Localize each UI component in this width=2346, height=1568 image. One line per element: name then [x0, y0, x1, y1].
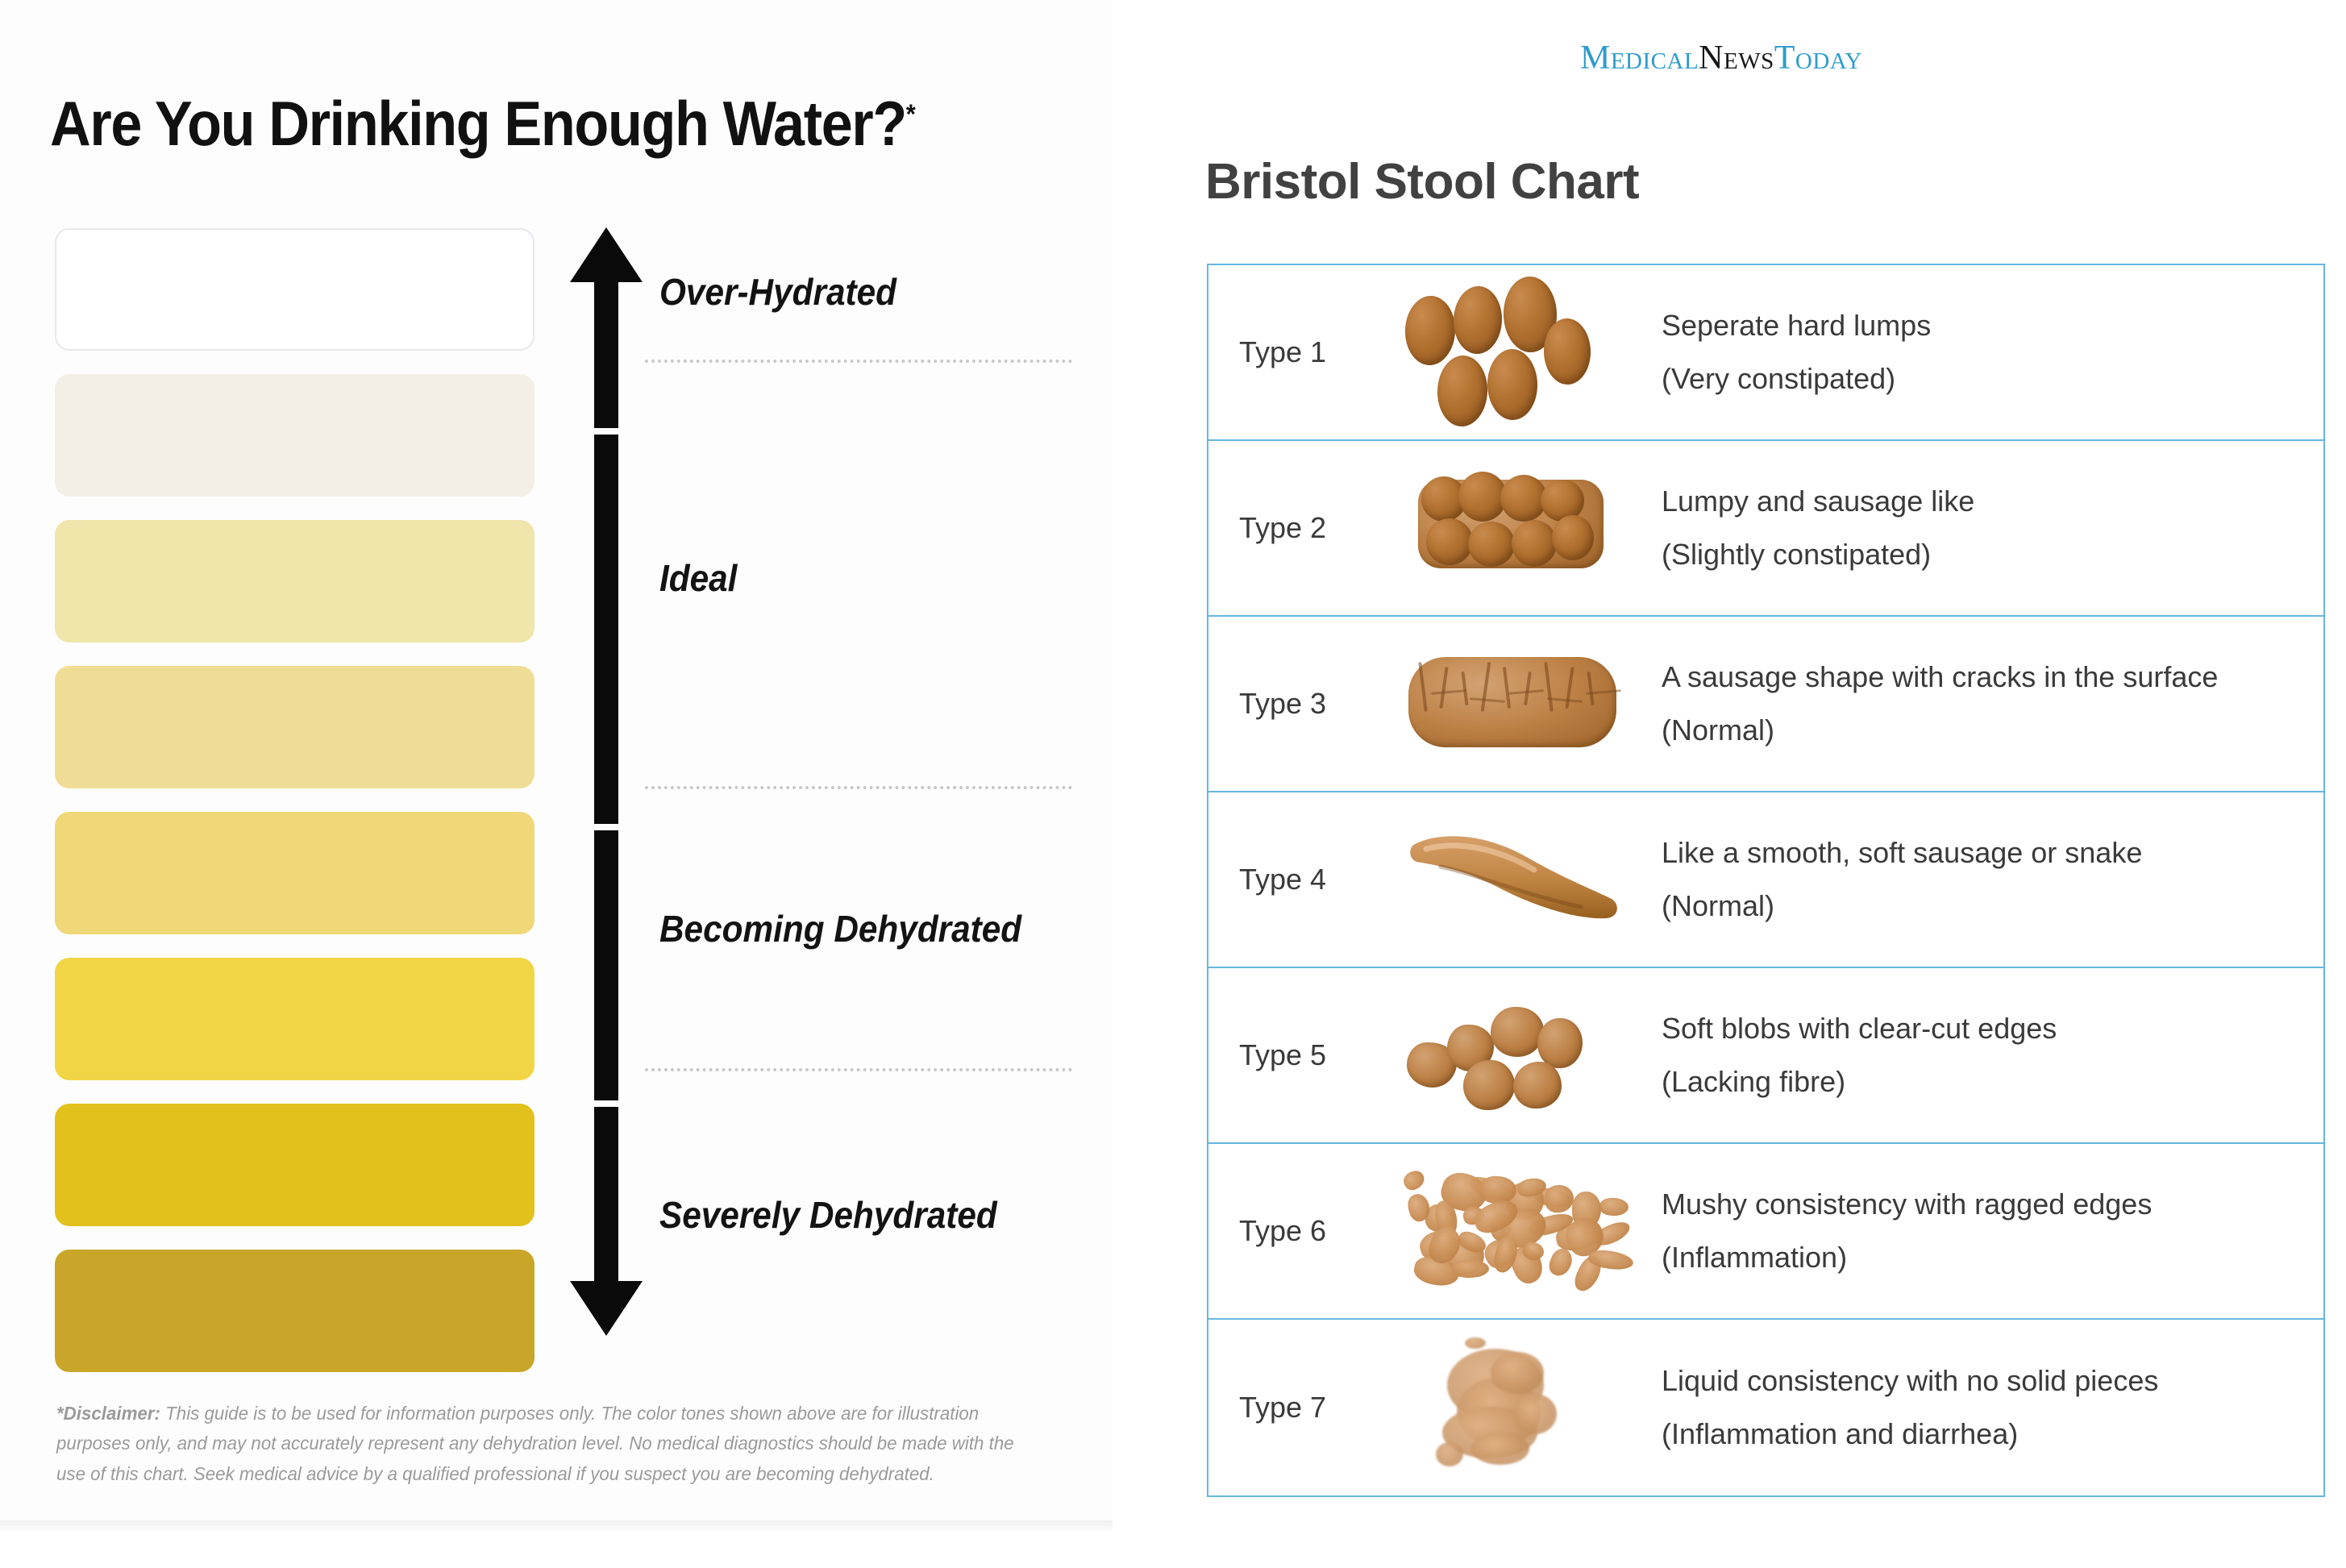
logo-part-medical: Medical	[1580, 40, 1699, 77]
stool-description: Like a smooth, soft sausage or snake(Nor…	[1644, 838, 2323, 921]
stool-mush-piece	[1599, 1197, 1628, 1217]
arrow-shaft-segment-1	[594, 282, 618, 428]
swatch-7-gold	[55, 1104, 535, 1226]
stool-type-label: Type 5	[1208, 1038, 1394, 1072]
stool-illustration-hard-lumps	[1394, 265, 1644, 439]
stool-lump	[1453, 285, 1504, 355]
table-row: Type 3A sausage shape with cracks in the…	[1208, 617, 2323, 792]
hydration-chart-title: Are You Drinking Enough Water?*	[50, 87, 914, 160]
stool-description-main: Seperate hard lumps	[1662, 311, 2323, 340]
swatch-4-light-yellow	[55, 666, 535, 788]
stool-description-main: Soft blobs with clear-cut edges	[1662, 1014, 2323, 1043]
hydration-chart-panel: Are You Drinking Enough Water?* Over-Hyd…	[0, 0, 1113, 1532]
stool-illustration-liquid	[1394, 1320, 1644, 1495]
stool-description-sub: (Slightly constipated)	[1662, 540, 2323, 569]
stool-snake	[1408, 830, 1623, 925]
table-row: Type 6Mushy consistency with ragged edge…	[1208, 1144, 2323, 1320]
stool-lump	[1487, 348, 1538, 420]
stool-description-main: Lumpy and sausage like	[1662, 487, 2323, 516]
arrow-head-down-icon	[570, 1281, 643, 1336]
stool-description-sub: (Inflammation)	[1662, 1243, 2323, 1272]
stool-description-main: Liquid consistency with no solid pieces	[1662, 1366, 2323, 1395]
logo-part-news: News	[1699, 40, 1774, 77]
stool-type-label: Type 6	[1208, 1214, 1394, 1248]
stool-description: Liquid consistency with no solid pieces(…	[1644, 1366, 2323, 1449]
stool-soft-blob	[1491, 1007, 1544, 1057]
swatch-6-deep-yellow	[55, 958, 535, 1080]
stool-mush-piece	[1400, 1167, 1428, 1193]
urine-color-swatch-column	[55, 228, 535, 1395]
logo-part-today: Today	[1774, 40, 1862, 77]
arrow-head-up-icon	[570, 227, 643, 282]
arrow-shaft-segment-4	[594, 1107, 618, 1281]
hydration-scale-arrow	[570, 227, 643, 1336]
stool-illustration-cracked-sausage	[1394, 617, 1644, 791]
stool-type-label: Type 4	[1208, 863, 1394, 896]
stool-illustration-smooth-sausage	[1394, 792, 1644, 967]
stool-description-sub: (Very constipated)	[1662, 364, 2323, 393]
swatch-3-pale-yellow	[55, 520, 535, 643]
arrow-shaft-segment-2	[594, 435, 618, 824]
stool-description-main: Like a smooth, soft sausage or snake	[1662, 838, 2323, 867]
stool-description: Soft blobs with clear-cut edges(Lacking …	[1644, 1014, 2323, 1096]
bristol-chart-title: Bristol Stool Chart	[1205, 153, 1639, 210]
title-asterisk: *	[906, 99, 915, 130]
stool-illustration-mushy	[1394, 1144, 1644, 1318]
stool-liquid-pool	[1465, 1337, 1486, 1349]
stool-illustration-soft-blobs	[1394, 968, 1644, 1142]
stool-type-label: Type 2	[1208, 511, 1394, 545]
stool-liquid-pool	[1513, 1394, 1557, 1434]
zone-divider-1	[645, 360, 1072, 363]
stool-type-label: Type 1	[1208, 335, 1394, 369]
disclaimer-body: This guide is to be used for information…	[56, 1403, 1014, 1484]
stool-mush-piece	[1452, 1260, 1489, 1278]
swatch-2-pale-cream	[55, 374, 535, 497]
stool-soft-blob	[1463, 1060, 1515, 1110]
stool-lump	[1436, 355, 1488, 427]
stool-illustration-lumpy-sausage	[1394, 441, 1644, 615]
stool-lump	[1552, 515, 1594, 560]
zone-divider-3	[645, 1068, 1072, 1071]
table-row: Type 5Soft blobs with clear-cut edges(La…	[1208, 968, 2323, 1144]
stool-lump	[1512, 520, 1557, 567]
zone-divider-2	[645, 786, 1072, 789]
table-row: Type 4 Like a smooth, soft sausage or sn…	[1208, 792, 2323, 968]
arrow-shaft-segment-3	[594, 830, 618, 1100]
stool-soft-blob	[1513, 1062, 1562, 1108]
stool-description-sub: (Lacking fibre)	[1662, 1067, 2323, 1096]
table-row: Type 1Seperate hard lumps(Very constipat…	[1208, 265, 2323, 441]
zone-label-becoming-dehydrated: Becoming Dehydrated	[659, 907, 1021, 950]
stool-description: Seperate hard lumps(Very constipated)	[1644, 311, 2323, 393]
stool-lump	[1458, 472, 1507, 522]
stool-lump	[1404, 295, 1457, 366]
stool-type-label: Type 3	[1208, 687, 1394, 721]
stool-lump	[1543, 318, 1591, 385]
table-row: Type 7Liquid consistency with no solid p…	[1208, 1320, 2323, 1495]
stool-description-main: Mushy consistency with ragged edges	[1662, 1190, 2323, 1219]
stool-soft-blob	[1537, 1018, 1583, 1068]
stool-lump	[1468, 522, 1515, 567]
stool-description-sub: (Normal)	[1662, 892, 2323, 921]
swatch-5-yellow	[55, 812, 535, 934]
bristol-stool-table: Type 1Seperate hard lumps(Very constipat…	[1207, 264, 2325, 1497]
stool-liquid-pool	[1471, 1433, 1529, 1465]
medical-news-today-logo: MedicalNewsToday	[1580, 39, 1862, 77]
stool-mush-piece	[1544, 1183, 1575, 1213]
table-row: Type 2Lumpy and sausage like(Slightly co…	[1208, 441, 2323, 617]
stool-liquid-pool	[1436, 1442, 1463, 1466]
stool-description: Mushy consistency with ragged edges(Infl…	[1644, 1190, 2323, 1272]
stool-lump	[1426, 518, 1473, 565]
disclaimer-lead: *Disclaimer:	[56, 1403, 160, 1424]
zone-label-ideal: Ideal	[659, 556, 737, 600]
swatch-1-clear	[55, 228, 535, 351]
stool-description: A sausage shape with cracks in the surfa…	[1644, 663, 2323, 745]
swatch-8-dark-ochre	[55, 1250, 535, 1372]
stool-description-main: A sausage shape with cracks in the surfa…	[1662, 663, 2323, 692]
hydration-title-text: Are You Drinking Enough Water?	[50, 88, 906, 159]
zone-label-over-hydrated: Over-Hydrated	[659, 270, 896, 314]
stool-description-sub: (Inflammation and diarrhea)	[1662, 1420, 2323, 1449]
stool-liquid-pool	[1491, 1352, 1544, 1394]
zone-label-severely-dehydrated: Severely Dehydrated	[659, 1193, 997, 1237]
stool-description: Lumpy and sausage like(Slightly constipa…	[1644, 487, 2323, 569]
stool-type-label: Type 7	[1208, 1391, 1394, 1425]
hydration-disclaimer: *Disclaimer: This guide is to be used fo…	[56, 1399, 1046, 1489]
stool-description-sub: (Normal)	[1662, 716, 2323, 745]
